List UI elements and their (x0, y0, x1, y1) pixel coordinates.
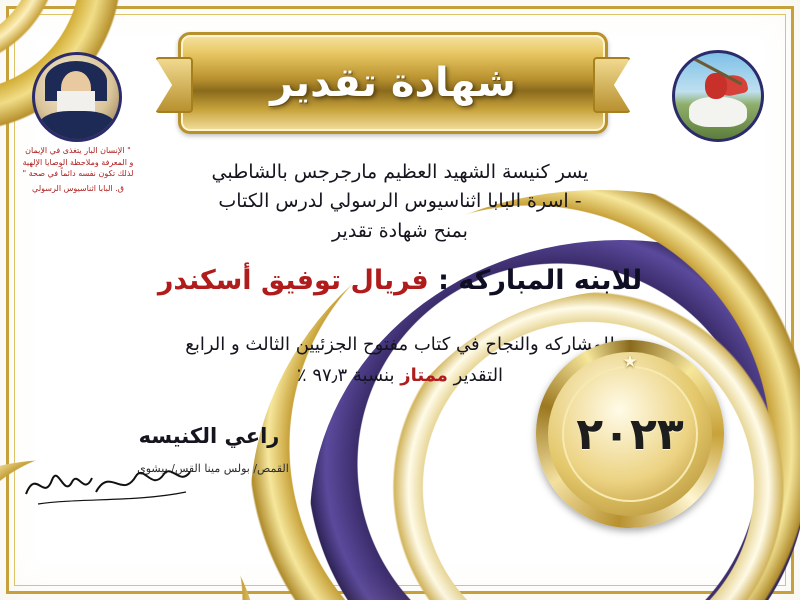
signature-title: راعي الكنيسه (104, 424, 314, 448)
grade-word: ممتاز (400, 365, 448, 386)
title-ribbon: شهادة تقدير (178, 32, 608, 134)
seal-year: ٢٠٢٣ (576, 409, 683, 460)
gold-seal-medal: ٢٠٢٣ ★ (536, 340, 724, 528)
seal-core: ٢٠٢٣ (562, 366, 698, 502)
horse-shape (689, 97, 747, 127)
intro-line-1: يسر كنيسة الشهيد العظيم مارجرجس بالشاطبي (130, 158, 670, 187)
star-icon: ★ (622, 352, 637, 372)
rider-shape (705, 73, 727, 99)
intro-line-2: - اسرة البابا اثناسيوس الرسولي لدرس الكت… (130, 187, 670, 216)
saint-george-icon (672, 50, 764, 142)
quote-line-3: لذلك تكون نفسه دائماً في صحة " (18, 168, 138, 180)
honoree-line: للابنه المباركه : فريال توفيق أسكندر (120, 265, 680, 296)
certificate-page: شهادة تقدير " الإنسان البار يتغذى في الإ… (0, 0, 800, 600)
honoree-label: للابنه المباركه : (438, 265, 642, 296)
grade-prefix: التقدير (454, 365, 503, 386)
quote-line-2: و المعرفة وملاحظة الوصايا الإلهية (18, 157, 138, 169)
quote-line-1: " الإنسان البار يتغذى في الإيمان (18, 145, 138, 157)
saint-athanasius-portrait-icon (32, 52, 122, 142)
left-medallion-caption: " الإنسان البار يتغذى في الإيمان و المعر… (18, 145, 138, 194)
portrait-robe-shape (39, 111, 115, 142)
page-title: شهادة تقدير (270, 60, 516, 106)
quote-attribution: ق. البابا اثناسيوس الرسولي (18, 183, 138, 195)
signature-scribble (18, 452, 198, 512)
honoree-name: فريال توفيق أسكندر (158, 265, 429, 296)
grade-suffix: بنسبة ٩٧٫٣ ٪ (297, 365, 395, 386)
intro-line-3: بمنح شهادة تقدير (130, 217, 670, 246)
intro-text-block: يسر كنيسة الشهيد العظيم مارجرجس بالشاطبي… (130, 158, 670, 246)
